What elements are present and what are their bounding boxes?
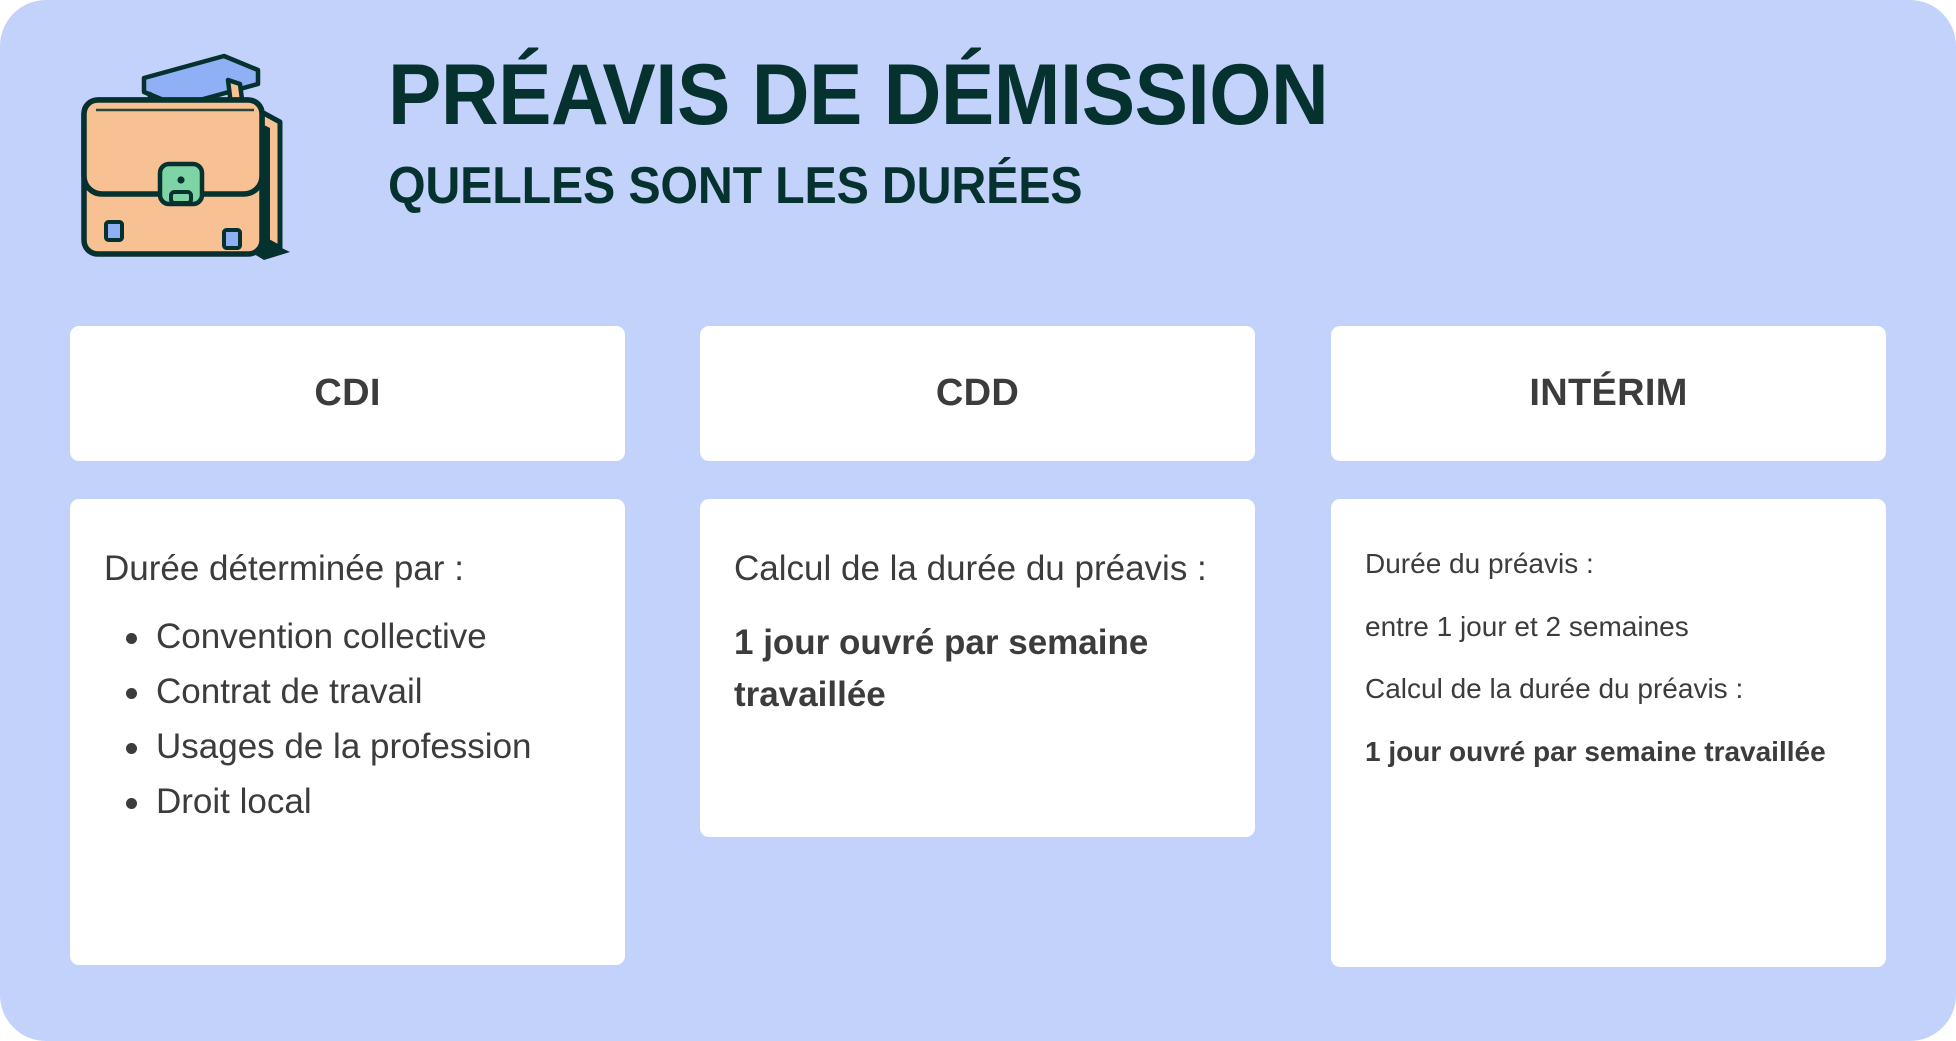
body-line-emphasis: 1 jour ouvré par semaine travaillée bbox=[734, 617, 1221, 721]
body-card-cdi: Durée déterminée par : Convention collec… bbox=[70, 499, 625, 965]
list-item: Contrat de travail bbox=[156, 666, 591, 717]
title-block: PRÉAVIS DE DÉMISSION QUELLES SONT LES DU… bbox=[388, 52, 1838, 212]
infographic-root: PRÉAVIS DE DÉMISSION QUELLES SONT LES DU… bbox=[0, 0, 1956, 1041]
body-line: Durée du préavis : bbox=[1365, 543, 1852, 586]
page-title: PRÉAVIS DE DÉMISSION bbox=[388, 52, 1737, 138]
body-line: Durée déterminée par : bbox=[104, 543, 591, 595]
header-card-label: CDD bbox=[936, 372, 1019, 415]
bullet-list-cdi: Convention collective Contrat de travail… bbox=[104, 611, 591, 827]
body-card-cdd: Calcul de la durée du préavis : 1 jour o… bbox=[700, 499, 1255, 837]
briefcase-icon bbox=[58, 34, 326, 274]
column-cdi: CDI Durée déterminée par : Convention co… bbox=[70, 326, 625, 965]
header-card-cdi[interactable]: CDI bbox=[70, 326, 625, 461]
column-cdd: CDD Calcul de la durée du préavis : 1 jo… bbox=[700, 326, 1255, 837]
body-line: Calcul de la durée du préavis : bbox=[1365, 668, 1852, 711]
page-subtitle: QUELLES SONT LES DURÉES bbox=[388, 160, 1737, 212]
list-item: Droit local bbox=[156, 776, 591, 827]
header-card-cdd[interactable]: CDD bbox=[700, 326, 1255, 461]
header-card-label: INTÉRIM bbox=[1529, 372, 1687, 415]
body-line: Calcul de la durée du préavis : bbox=[734, 543, 1221, 595]
column-interim: INTÉRIM Durée du préavis : entre 1 jour … bbox=[1331, 326, 1886, 967]
body-card-interim: Durée du préavis : entre 1 jour et 2 sem… bbox=[1331, 499, 1886, 967]
body-line: entre 1 jour et 2 semaines bbox=[1365, 606, 1852, 649]
header-section: PRÉAVIS DE DÉMISSION QUELLES SONT LES DU… bbox=[0, 0, 1956, 310]
list-item: Convention collective bbox=[156, 611, 591, 662]
header-card-interim[interactable]: INTÉRIM bbox=[1331, 326, 1886, 461]
header-card-label: CDI bbox=[314, 372, 380, 415]
body-line-emphasis: 1 jour ouvré par semaine travaillée bbox=[1365, 731, 1852, 774]
list-item: Usages de la profession bbox=[156, 721, 591, 772]
